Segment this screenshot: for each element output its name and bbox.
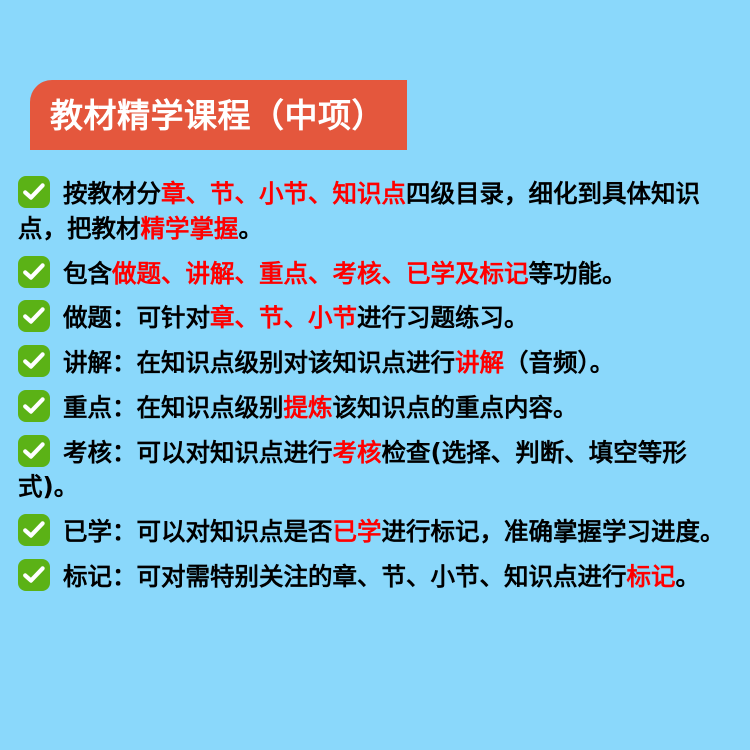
check-icon (18, 256, 50, 288)
feature-item: 标记：可对需特别关注的章、节、小节、知识点进行标记。 (0, 559, 750, 595)
header-badge: 教材精学课程（中项） (30, 80, 407, 150)
feature-item-label: 讲解：在知识点级别对该知识点进行讲解（音频）。 (63, 348, 614, 377)
plain-text: 已学：可以对知识点是否 (63, 517, 333, 546)
highlighted-term: 章、节、小节、知识点 (161, 179, 406, 208)
plain-text: 按教材分 (63, 179, 161, 208)
highlighted-term: 讲解 (455, 348, 504, 377)
check-icon (18, 300, 50, 332)
feature-item: 已学：可以对知识点是否已学进行标记，准确掌握学习进度。 (0, 514, 750, 550)
feature-item-label: 已学：可以对知识点是否已学进行标记，准确掌握学习进度。 (63, 517, 725, 546)
feature-item: 考核：可以对知识点进行考核检查(选择、判断、填空等形式)。 (0, 435, 750, 506)
check-icon (18, 435, 50, 467)
highlighted-term: 考核 (333, 438, 382, 467)
plain-text: 重点：在知识点级别 (63, 393, 284, 422)
plain-text: 进行习题练习。 (357, 303, 529, 332)
highlighted-term: 做题、讲解、重点、考核、已学及标记 (112, 259, 529, 288)
feature-item: 做题：可针对章、节、小节进行习题练习。 (0, 300, 750, 336)
plain-text: 考核：可以对知识点进行 (63, 438, 333, 467)
plain-text: 。 (676, 562, 701, 591)
plain-text: 包含 (63, 259, 112, 288)
feature-item-label: 重点：在知识点级别提炼该知识点的重点内容。 (63, 393, 578, 422)
page-title: 教材精学课程（中项） (50, 99, 385, 132)
check-icon (18, 559, 50, 591)
plain-text: 该知识点的重点内容。 (333, 393, 578, 422)
feature-list: 按教材分章、节、小节、知识点四级目录，细化到具体知识点，把教材精学掌握。包含做题… (0, 176, 750, 604)
check-icon (18, 176, 50, 208)
highlighted-term: 已学 (333, 517, 382, 546)
highlighted-term: 提炼 (284, 393, 333, 422)
plain-text: 讲解：在知识点级别对该知识点进行 (63, 348, 455, 377)
feature-item-label: 做题：可针对章、节、小节进行习题练习。 (63, 303, 529, 332)
highlighted-term: 精学掌握 (141, 214, 239, 243)
feature-item-label: 考核：可以对知识点进行考核检查(选择、判断、填空等形式)。 (18, 438, 687, 502)
feature-item-label: 包含做题、讲解、重点、考核、已学及标记等功能。 (63, 259, 627, 288)
feature-item: 包含做题、讲解、重点、考核、已学及标记等功能。 (0, 256, 750, 292)
feature-item-label: 标记：可对需特别关注的章、节、小节、知识点进行标记。 (63, 562, 700, 591)
feature-item-label: 按教材分章、节、小节、知识点四级目录，细化到具体知识点，把教材精学掌握。 (18, 179, 700, 243)
plain-text: 标记：可对需特别关注的章、节、小节、知识点进行 (63, 562, 627, 591)
highlighted-term: 章、节、小节 (210, 303, 357, 332)
plain-text: 。 (239, 214, 264, 243)
plain-text: （音频）。 (504, 348, 614, 377)
feature-item: 按教材分章、节、小节、知识点四级目录，细化到具体知识点，把教材精学掌握。 (0, 176, 750, 247)
check-icon (18, 390, 50, 422)
check-icon (18, 345, 50, 377)
plain-text: 进行标记，准确掌握学习进度。 (382, 517, 725, 546)
check-icon (18, 514, 50, 546)
plain-text: 等功能。 (529, 259, 627, 288)
promo-page: 教材精学课程（中项） 按教材分章、节、小节、知识点四级目录，细化到具体知识点，把… (0, 0, 750, 750)
plain-text: 做题：可针对 (63, 303, 210, 332)
feature-item: 重点：在知识点级别提炼该知识点的重点内容。 (0, 390, 750, 426)
highlighted-term: 标记 (627, 562, 676, 591)
feature-item: 讲解：在知识点级别对该知识点进行讲解（音频）。 (0, 345, 750, 381)
